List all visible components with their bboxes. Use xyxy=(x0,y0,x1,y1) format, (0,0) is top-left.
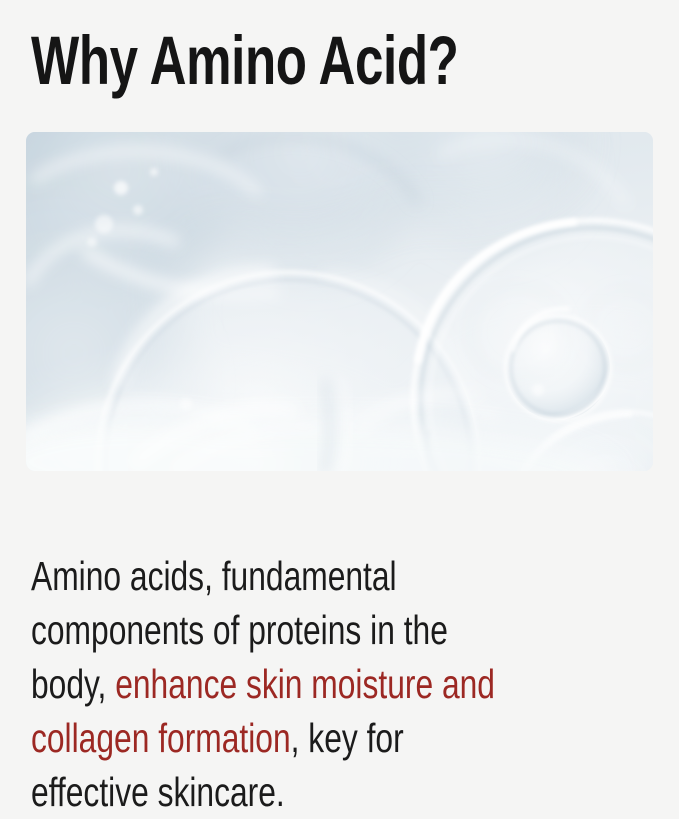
infographic-page: Why Amino Acid? xyxy=(0,0,679,679)
body-paragraph: Amino acids, fundamental components of p… xyxy=(31,549,527,819)
page-title: Why Amino Acid? xyxy=(31,26,490,96)
bubbles-illustration xyxy=(26,132,653,471)
hero-image xyxy=(26,132,653,471)
